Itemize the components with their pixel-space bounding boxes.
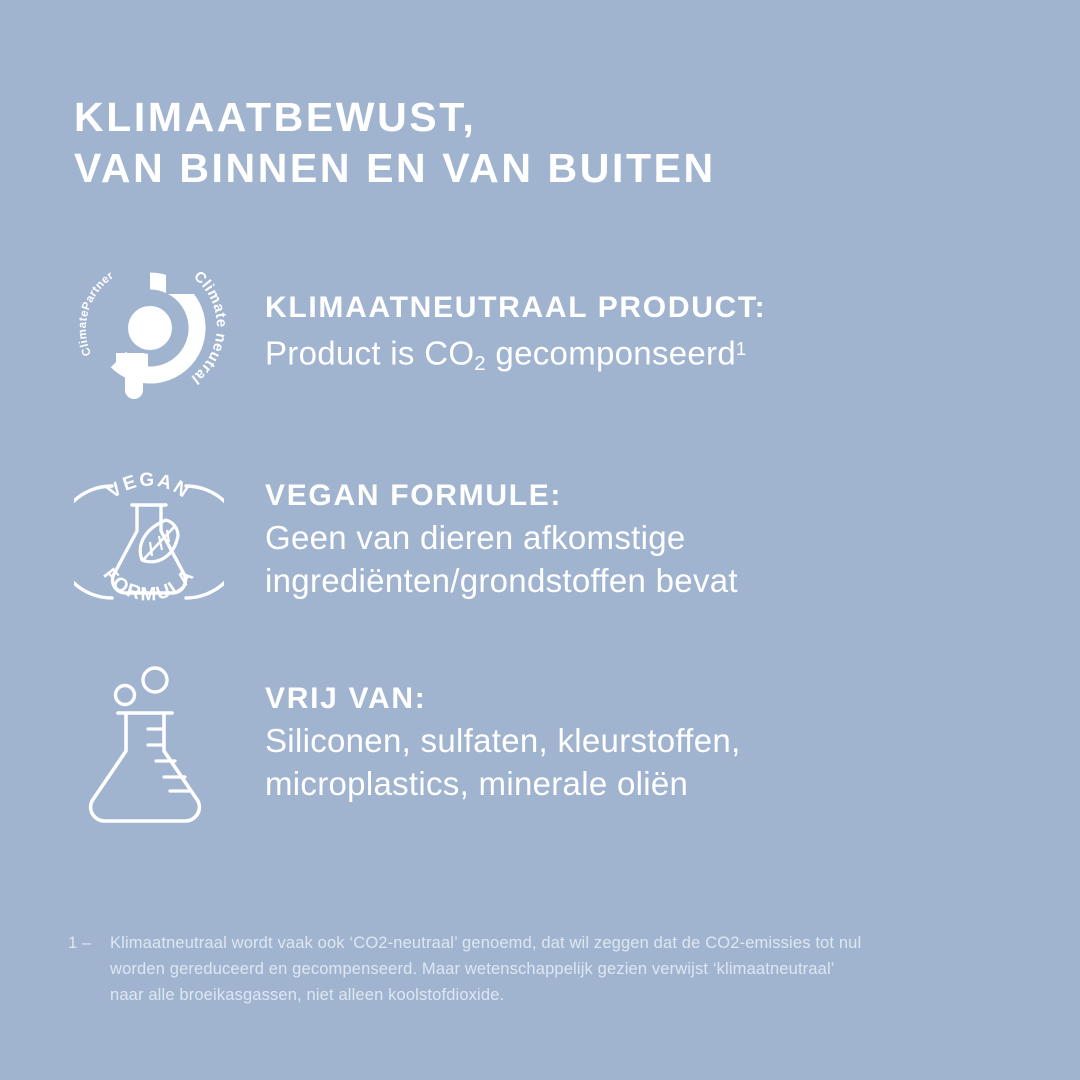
feature-text-free-from: VRIJ VAN: Siliconen, sulfaten, kleurstof… — [265, 679, 1055, 805]
svg-text:FORMULA: FORMULA — [99, 564, 200, 605]
page-title-line-1: KLIMAATBEWUST, — [74, 92, 1014, 143]
feature-body-text-post: gecomponseerd — [486, 334, 736, 371]
footnote-marker: 1 – — [68, 930, 110, 956]
footnote-reference-superscript: 1 — [736, 339, 746, 359]
co2-subscript: 2 — [474, 352, 486, 375]
footnote-line: naar alle broeikasgassen, niet alleen ko… — [110, 982, 1038, 1008]
svg-text:VEGAN: VEGAN — [104, 470, 194, 504]
flask-icon — [78, 665, 218, 825]
page-title-line-2: VAN BINNEN EN VAN BUITEN — [74, 143, 1014, 194]
feature-title: VEGAN FORMULE: — [265, 476, 1055, 516]
feature-body-line: ingrediënten/grondstoffen bevat — [265, 559, 1055, 602]
feature-text-vegan-formula: VEGAN FORMULE: Geen van dieren afkomstig… — [265, 476, 1055, 602]
feature-body-line: Siliconen, sulfaten, kleurstoffen, — [265, 719, 1055, 762]
feature-title: VRIJ VAN: — [265, 679, 1055, 719]
feature-body-line: Geen van dieren afkomstige — [265, 516, 1055, 559]
svg-text:ClimatePartner 14717-2005-100: ClimatePartner 14717-2005-1001 — [70, 248, 119, 358]
footnote-body: Klimaatneutraal wordt vaak ook ‘CO2-neut… — [110, 930, 1038, 1008]
footnote-line: Klimaatneutraal wordt vaak ook ‘CO2-neut… — [110, 930, 1038, 956]
feature-body: Product is CO2 gecomponseerd1 — [265, 328, 1055, 385]
feature-body-line: microplastics, minerale oliën — [265, 762, 1055, 805]
feature-body: Geen van dieren afkomstige ingrediënten/… — [265, 516, 1055, 602]
feature-body: Siliconen, sulfaten, kleurstoffen, micro… — [265, 719, 1055, 805]
feature-title: KLIMAATNEUTRAAL PRODUCT: — [265, 288, 1055, 328]
feature-body-line: Product is CO2 gecomponseerd1 — [265, 328, 1055, 385]
feature-body-text-pre: Product is CO — [265, 334, 474, 371]
vegan-arc-bottom-text: FORMULA — [99, 564, 200, 605]
footnote-line: worden gereduceerd en gecompenseerd. Maa… — [110, 956, 1038, 982]
feature-text-climate-neutral: KLIMAATNEUTRAAL PRODUCT: Product is CO2 … — [265, 288, 1055, 385]
climate-neutral-badge-icon: ClimatePartner 14717-2005-1001 Climate n… — [70, 248, 230, 408]
vegan-formula-badge-icon: VEGAN FORMULA — [74, 458, 224, 626]
vegan-arc-top-text: VEGAN — [104, 470, 194, 504]
page-title: KLIMAATBEWUST, VAN BINNEN EN VAN BUITEN — [74, 92, 1014, 194]
footnote: 1 – Klimaatneutraal wordt vaak ook ‘CO2-… — [68, 930, 1038, 1008]
badge-arc-left-text: ClimatePartner 14717-2005-1001 — [70, 248, 119, 358]
